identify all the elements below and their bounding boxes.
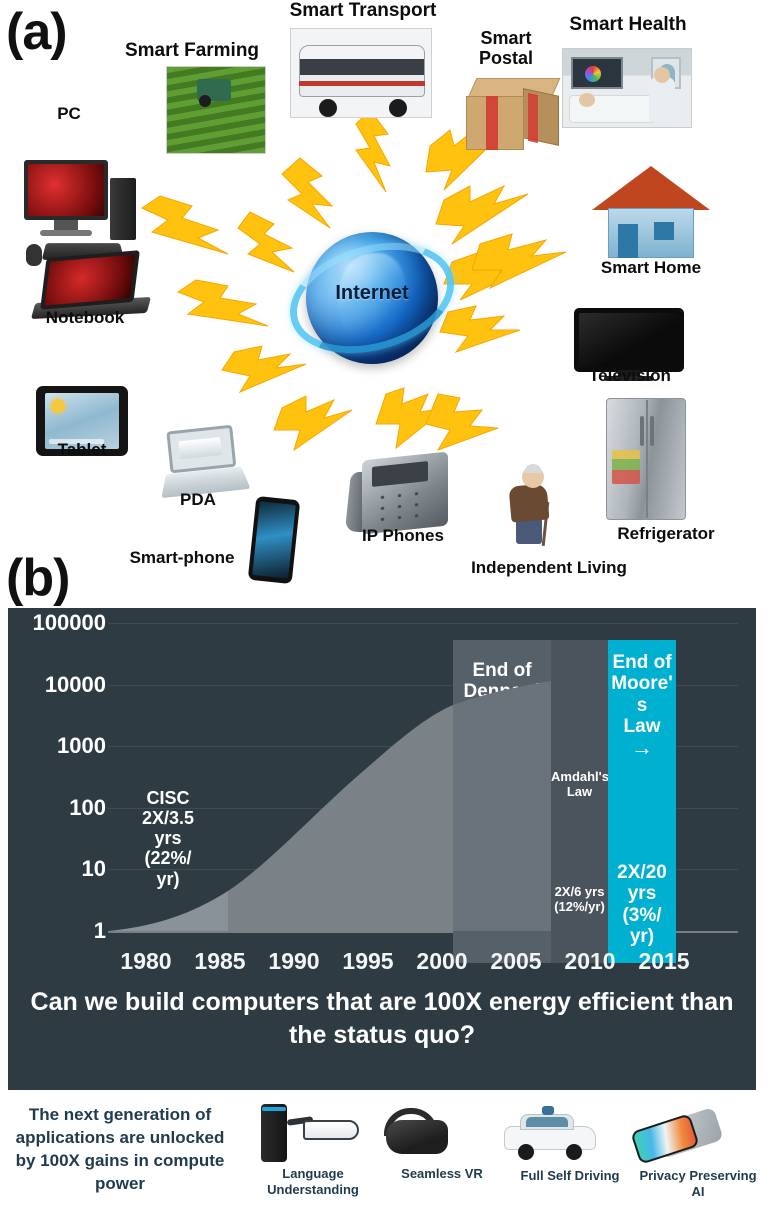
smart-postal-icon (466, 78, 562, 154)
fridge-handle-left (640, 416, 644, 446)
footer-applications: The next generation of applications are … (0, 1094, 766, 1218)
smartphone-icon (248, 496, 301, 584)
label-television: Television (566, 366, 694, 385)
smartphone-screen (252, 501, 296, 578)
figure-root: (a) Internet (0, 0, 766, 1218)
label-refrigerator: Refrigerator (592, 524, 740, 543)
chart-plot-area: CISC 2X/3.5 yrs (22%/ yr) RISC 2X/1.5 yr… (8, 608, 756, 963)
performance-curve (8, 608, 756, 938)
label-ip-phones: IP Phones (344, 526, 462, 545)
app-caption-seamless-vr: Seamless VR (382, 1166, 502, 1182)
smart-home-icon (592, 166, 710, 258)
smartphone-body (248, 496, 301, 584)
bus-stripe (299, 81, 425, 86)
app-caption-language-understanding: Language Understanding (244, 1166, 382, 1197)
ip-phone-keypad (374, 487, 426, 524)
label-smart-home: Smart Home (572, 258, 730, 277)
tv-screen (579, 313, 679, 367)
y-axis: 100000 10000 1000 100 10 1 (16, 608, 106, 938)
smart-health-photo (562, 48, 692, 128)
app-caption-full-self-driving: Full Self Driving (502, 1168, 638, 1184)
notebook-screen (45, 254, 136, 305)
app-caption-privacy-preserving-ai: Privacy Preserving AI (630, 1168, 766, 1199)
person-legs (516, 518, 542, 544)
independent-living-icon (496, 466, 562, 548)
notebook-lid (40, 250, 140, 310)
chart-question-caption: Can we build computers that are 100X ene… (24, 986, 740, 1051)
smart-glasses-icon (287, 1116, 361, 1146)
smartphones-icon (630, 1112, 766, 1164)
label-smart-postal: Smart Postal (460, 28, 552, 68)
phone-screen (633, 1116, 697, 1162)
label-smart-phone: Smart-phone (108, 548, 256, 567)
person-head (522, 466, 544, 488)
phone-front (630, 1113, 699, 1164)
tractor (197, 79, 231, 101)
echo-and-glasses-icon (261, 1100, 365, 1166)
ytick-1000: 1000 (16, 733, 106, 759)
label-independent-living: Independent Living (446, 558, 652, 577)
pc-tower (110, 178, 136, 240)
smart-farming-photo (166, 66, 266, 154)
house-door (618, 224, 638, 258)
house-window (654, 222, 674, 240)
pc-monitor (24, 160, 108, 220)
refrigerator-icon (606, 398, 686, 520)
car-lidar-sensor (542, 1106, 554, 1115)
ytick-100: 100 (16, 795, 106, 821)
pc-base (40, 230, 92, 236)
label-notebook: Notebook (26, 308, 144, 327)
parcel-tape-side (528, 93, 538, 143)
tv-body (574, 308, 684, 372)
app-seamless-vr: Seamless VR (382, 1108, 502, 1182)
app-full-self-driving: Full Self Driving (502, 1106, 638, 1184)
panel-b-letter: (b) (6, 548, 69, 608)
curve-fill-multicore (453, 681, 551, 931)
fridge-contents (612, 450, 640, 484)
car-wheel-rear (566, 1144, 582, 1160)
ip-phone-icon (348, 450, 452, 536)
curve-fill-risc (108, 705, 453, 931)
label-smart-farming: Smart Farming (114, 40, 270, 61)
vr-headset-icon (382, 1108, 502, 1160)
bus-body (299, 45, 425, 97)
label-smart-health: Smart Health (548, 14, 708, 35)
house-roof (592, 166, 710, 210)
ytick-100000: 100000 (16, 610, 106, 636)
patient (579, 93, 595, 107)
panel-b-performance-chart: CISC 2X/3.5 yrs (22%/ yr) RISC 2X/1.5 yr… (8, 608, 756, 1090)
self-driving-car-icon (502, 1106, 638, 1162)
parcel-tape-front (486, 96, 498, 150)
pc-screen (28, 164, 104, 216)
fridge-door-split (646, 400, 648, 518)
label-pc: PC (34, 104, 104, 123)
label-pda: PDA (162, 490, 234, 509)
ytick-10000: 10000 (16, 672, 106, 698)
person-torso (509, 483, 550, 522)
glasses-lens (303, 1120, 359, 1140)
app-language-understanding: Language Understanding (244, 1100, 382, 1197)
bus-wheel-rear (389, 99, 407, 117)
car-window (526, 1117, 568, 1127)
fridge-handle-right (650, 416, 654, 446)
panel-a-iot-diagram: (a) Internet (0, 0, 766, 598)
car-wheel-front (518, 1144, 534, 1160)
smart-transport-photo (290, 28, 432, 118)
vr-body (386, 1120, 448, 1154)
smart-speaker-icon (261, 1104, 287, 1162)
ytick-1: 1 (16, 918, 106, 944)
label-tablet: Tablet (40, 440, 124, 459)
pda-screen (166, 425, 236, 474)
app-privacy-preserving-ai: Privacy Preserving AI (630, 1112, 766, 1199)
footer-description: The next generation of applications are … (8, 1104, 232, 1196)
label-smart-transport: Smart Transport (278, 0, 448, 21)
internet-globe: Internet (288, 228, 456, 368)
internet-label: Internet (288, 282, 456, 305)
ytick-10: 10 (16, 856, 106, 882)
bus-wheel-front (319, 99, 337, 117)
doctor (649, 77, 675, 121)
health-display (571, 57, 623, 89)
xtick-2015: 2015 (619, 948, 709, 975)
